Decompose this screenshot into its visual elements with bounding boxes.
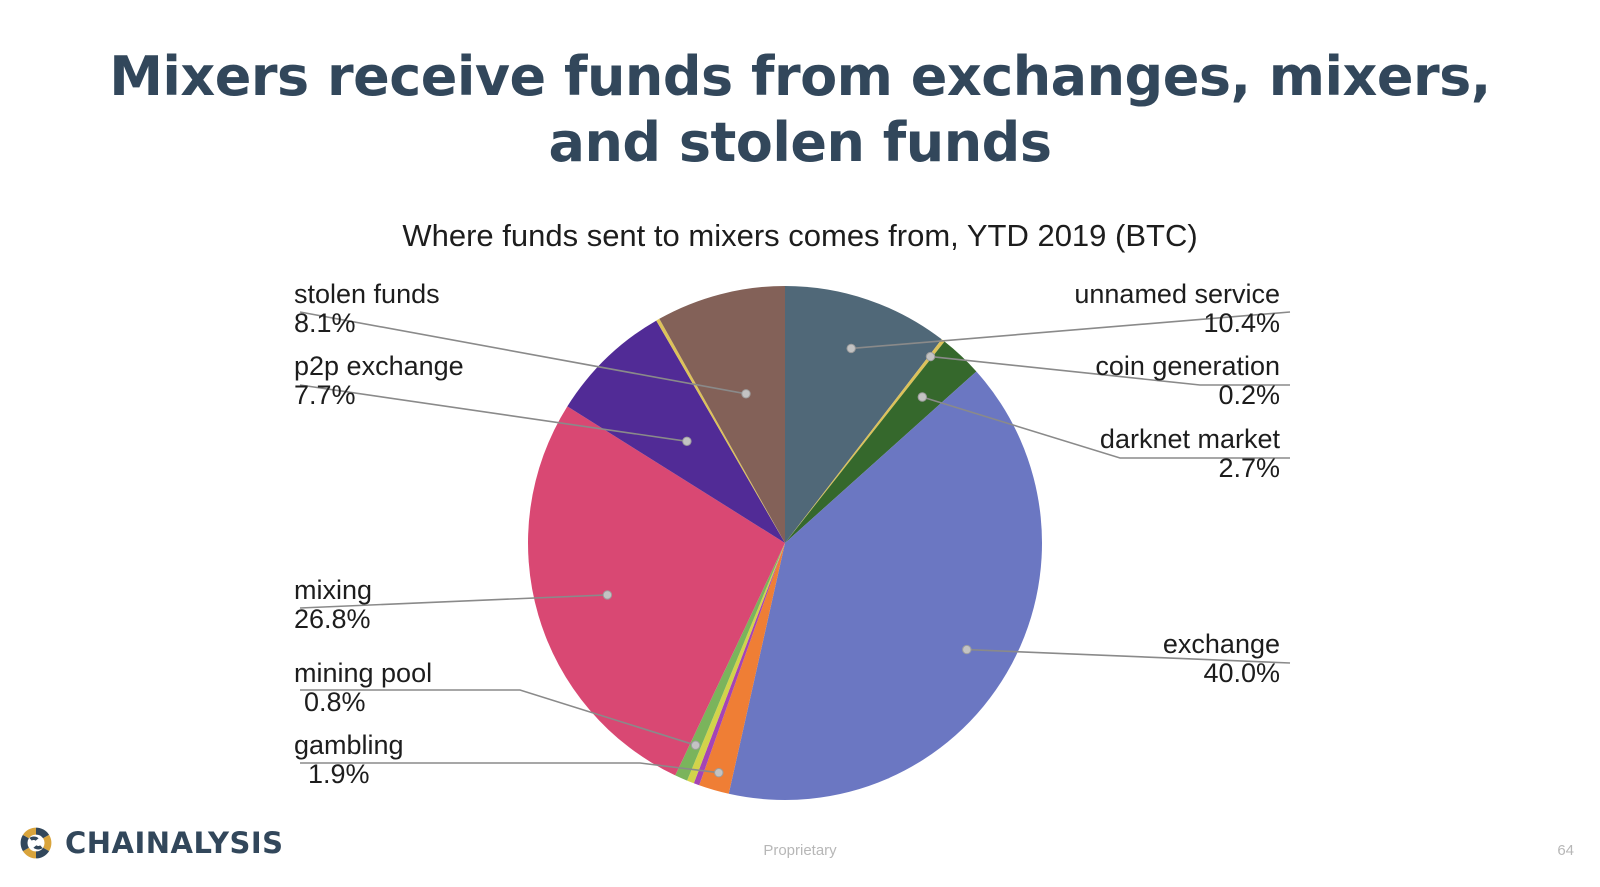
leader-anchor-dot	[742, 390, 750, 398]
callout-value: 1.9%	[294, 760, 714, 789]
callout-value: 7.7%	[294, 381, 714, 410]
page-number: 64	[1557, 842, 1574, 859]
callout-value: 40.0%	[860, 659, 1280, 688]
callout-label: exchange	[860, 630, 1280, 659]
callout-mining-pool: mining pool 0.8%	[294, 659, 714, 717]
callout-label: mixing	[294, 576, 714, 605]
callout-value: 10.4%	[860, 309, 1280, 338]
callout-value: 0.8%	[294, 688, 714, 717]
callout-label: unnamed service	[860, 280, 1280, 309]
leader-anchor-dot	[715, 769, 723, 777]
callout-mixing: mixing 26.8%	[294, 576, 714, 634]
callout-unnamed-service: unnamed service 10.4%	[860, 280, 1280, 338]
callout-label: gambling	[294, 731, 714, 760]
callout-label: stolen funds	[294, 280, 714, 309]
callout-coin-generation: coin generation 0.2%	[860, 352, 1280, 410]
callout-label: mining pool	[294, 659, 714, 688]
leader-anchor-dot	[683, 437, 691, 445]
callout-p2p-exchange: p2p exchange 7.7%	[294, 352, 714, 410]
callout-value: 0.2%	[860, 381, 1280, 410]
pie-svg	[0, 200, 1600, 820]
callout-label: coin generation	[860, 352, 1280, 381]
callout-stolen-funds: stolen funds 8.1%	[294, 280, 714, 338]
callout-value: 26.8%	[294, 605, 714, 634]
callout-label: p2p exchange	[294, 352, 714, 381]
callout-gambling: gambling 1.9%	[294, 731, 714, 789]
callout-label: darknet market	[860, 425, 1280, 454]
callout-exchange: exchange 40.0%	[860, 630, 1280, 688]
page-title: Mixers receive funds from exchanges, mix…	[80, 44, 1520, 176]
callout-value: 2.7%	[860, 454, 1280, 483]
callout-value: 8.1%	[294, 309, 714, 338]
leader-anchor-dot	[847, 344, 855, 352]
callout-darknet-market: darknet market 2.7%	[860, 425, 1280, 483]
pie-chart: Where funds sent to mixers comes from, Y…	[0, 200, 1600, 820]
confidentiality-notice: Proprietary	[0, 842, 1600, 859]
